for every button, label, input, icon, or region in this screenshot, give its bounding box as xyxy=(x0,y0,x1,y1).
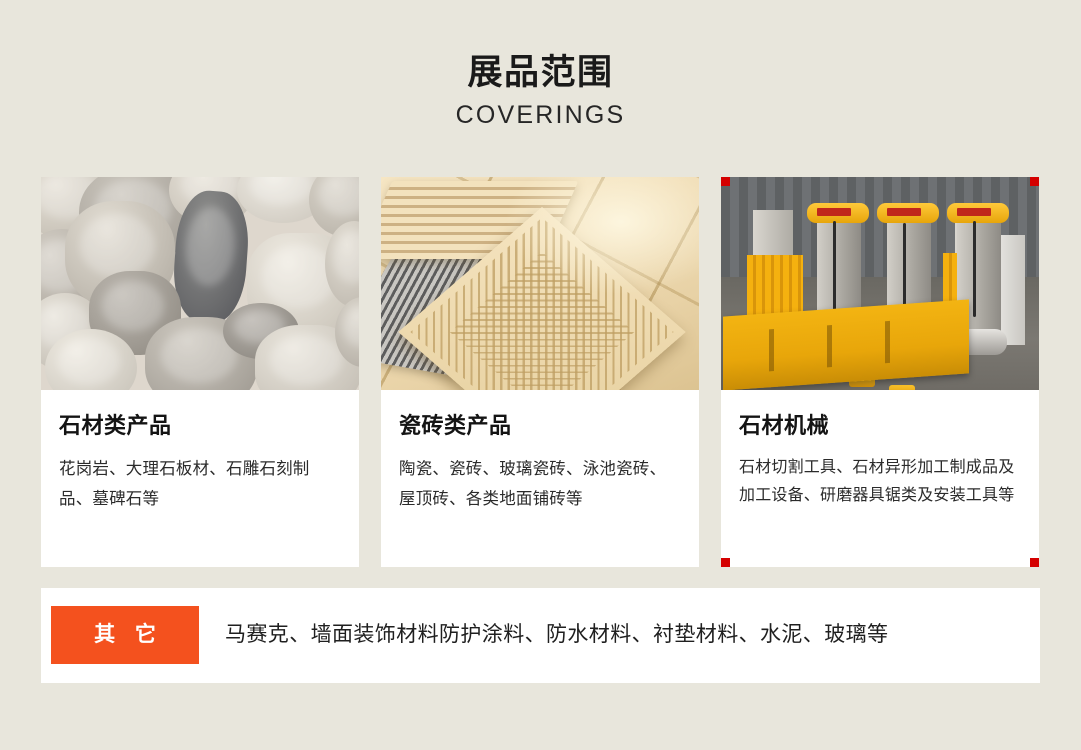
head-cap-2 xyxy=(877,203,939,223)
section-heading: 展品范围 COVERINGS xyxy=(0,52,1081,132)
head-cap-1 xyxy=(807,203,869,223)
selection-handle-top-right[interactable] xyxy=(1030,177,1039,186)
hose-1 xyxy=(833,221,836,317)
machine-panel-left xyxy=(747,255,803,319)
grinding-disc-3 xyxy=(889,385,915,390)
selection-handle-top-left[interactable] xyxy=(721,177,730,186)
card-stone-products[interactable]: 石材类产品 花岗岩、大理石板材、石雕石刻制品、墓碑石等 xyxy=(41,177,359,567)
card-list: 石材类产品 花岗岩、大理石板材、石雕石刻制品、墓碑石等 瓷砖类产品 陶瓷、瓷砖、… xyxy=(41,177,1040,567)
footer-description: 马赛克、墙面装饰材料防护涂料、防水材料、衬垫材料、水泥、玻璃等 xyxy=(225,620,888,650)
card-description-stone-products: 花岗岩、大理石板材、石雕石刻制品、墓碑石等 xyxy=(59,454,341,514)
head-cap-3 xyxy=(947,203,1009,223)
poster-canvas: 展品范围 COVERINGS xyxy=(0,0,1081,750)
ceramic-tiles-photo xyxy=(381,177,699,390)
tile-highlight-glow xyxy=(501,177,699,297)
card-body-stone-machinery: 石材机械 石材切割工具、石材异形加工制成品及加工设备、研磨器具锯类及安装工具等 xyxy=(721,390,1039,510)
card-description-stone-machinery: 石材切割工具、石材异形加工制成品及加工设备、研磨器具锯类及安装工具等 xyxy=(739,454,1021,510)
selection-handle-bottom-left[interactable] xyxy=(721,558,730,567)
card-body-tile-products: 瓷砖类产品 陶瓷、瓷砖、玻璃瓷砖、泳池瓷砖、屋顶砖、各类地面铺砖等 xyxy=(381,390,699,514)
card-title-stone-products: 石材类产品 xyxy=(59,412,341,440)
pebble-stones-photo xyxy=(41,177,359,390)
footer-badge-other[interactable]: 其 它 xyxy=(51,606,199,664)
footer-strip: 其 它 马赛克、墙面装饰材料防护涂料、防水材料、衬垫材料、水泥、玻璃等 xyxy=(41,588,1040,683)
card-image-tile-products xyxy=(381,177,699,390)
card-body-stone-products: 石材类产品 花岗岩、大理石板材、石雕石刻制品、墓碑石等 xyxy=(41,390,359,514)
card-description-tile-products: 陶瓷、瓷砖、玻璃瓷砖、泳池瓷砖、屋顶砖、各类地面铺砖等 xyxy=(399,454,681,514)
card-title-tile-products: 瓷砖类产品 xyxy=(399,412,681,440)
page-title: 展品范围 xyxy=(0,52,1081,94)
card-image-stone-products xyxy=(41,177,359,390)
stone-machinery-photo xyxy=(721,177,1039,390)
card-tile-products[interactable]: 瓷砖类产品 陶瓷、瓷砖、玻璃瓷砖、泳池瓷砖、屋顶砖、各类地面铺砖等 xyxy=(381,177,699,567)
page-subtitle: COVERINGS xyxy=(0,98,1081,132)
card-image-stone-machinery xyxy=(721,177,1039,390)
card-stone-machinery[interactable]: 石材机械 石材切割工具、石材异形加工制成品及加工设备、研磨器具锯类及安装工具等 xyxy=(721,177,1039,567)
hose-3 xyxy=(973,221,976,317)
card-title-stone-machinery: 石材机械 xyxy=(739,412,1021,440)
footer-content: 其 它 马赛克、墙面装饰材料防护涂料、防水材料、衬垫材料、水泥、玻璃等 xyxy=(51,606,1030,664)
selection-handle-bottom-right[interactable] xyxy=(1030,558,1039,567)
footer-badge-label: 其 它 xyxy=(87,606,163,664)
